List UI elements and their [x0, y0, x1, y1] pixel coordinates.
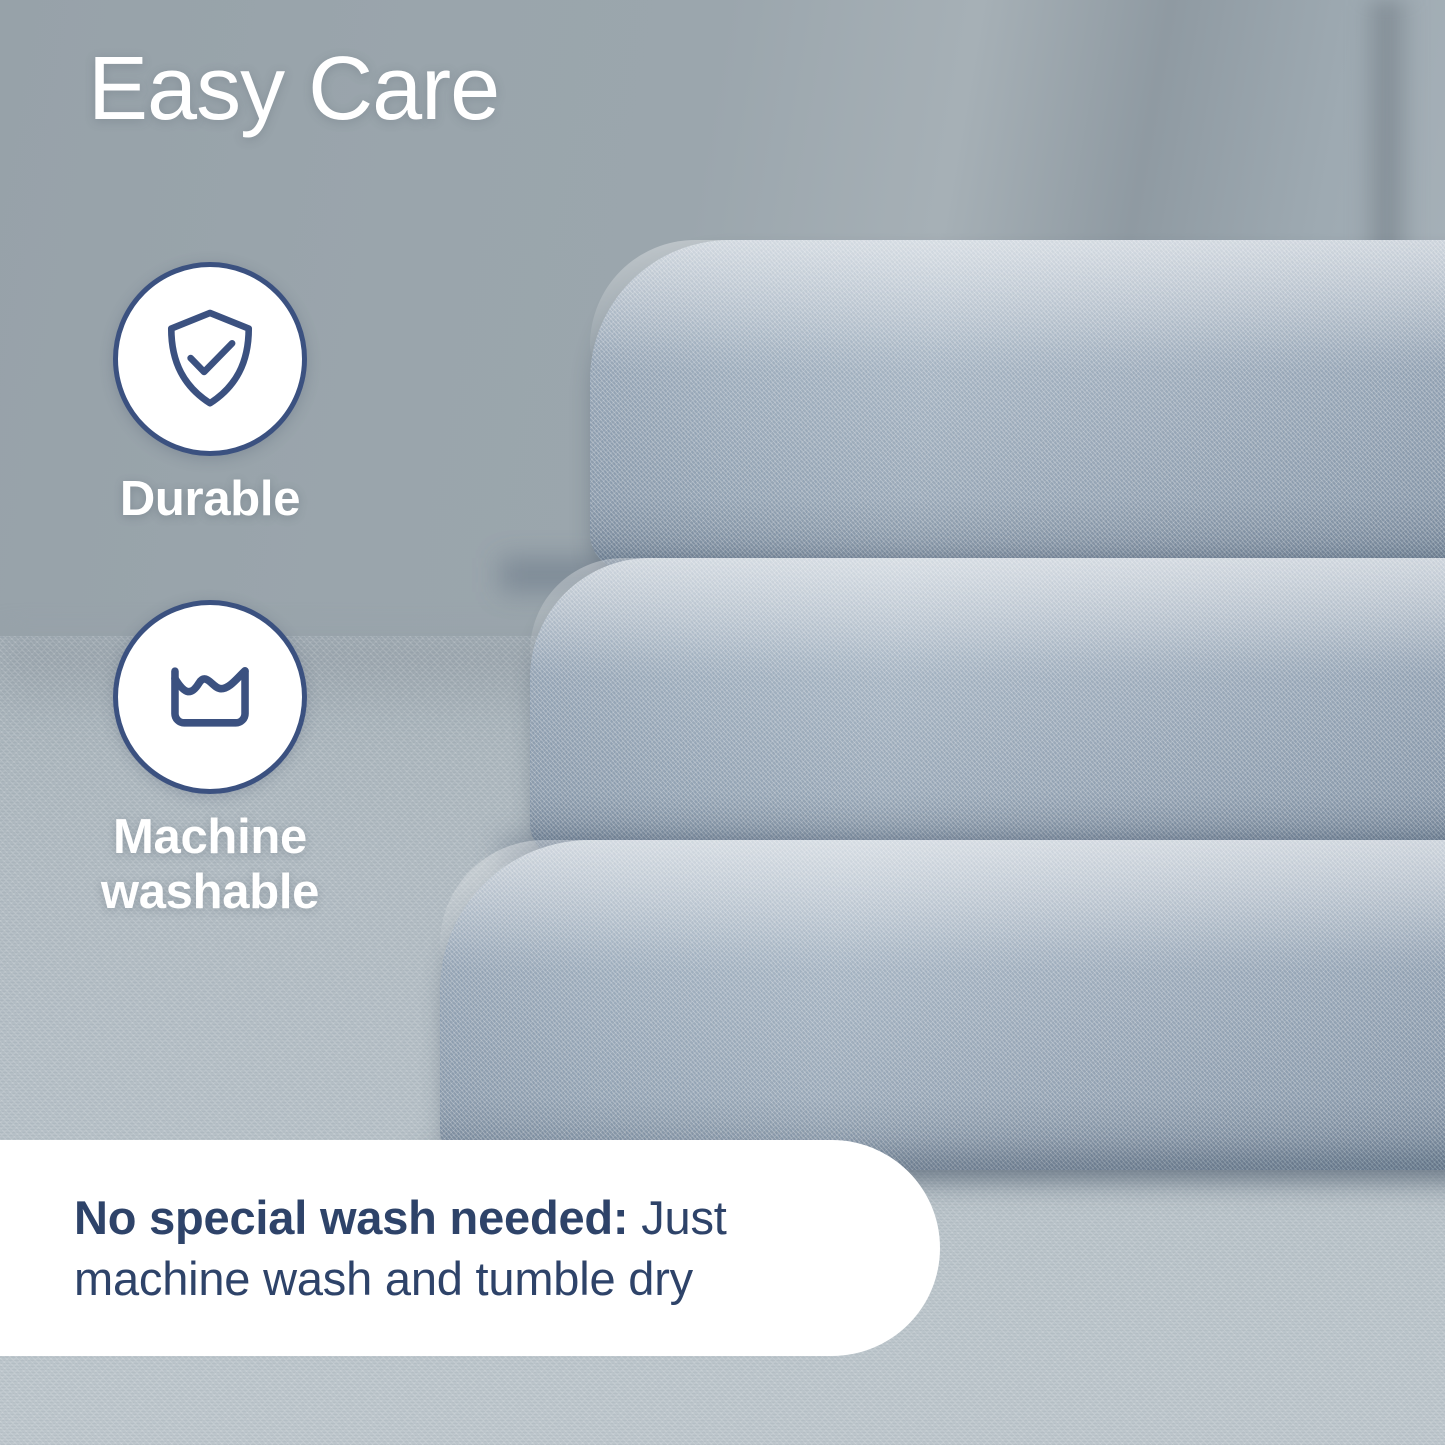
feature-durable-label: Durable [0, 472, 420, 527]
feature-label-line-1: Machine [0, 810, 420, 865]
page-title: Easy Care [88, 42, 499, 137]
folded-sheets-stack [380, 240, 1445, 1180]
feature-machine-washable-label: Machine washable [0, 810, 420, 920]
shield-check-icon [151, 300, 269, 418]
feature-durable-badge [113, 262, 307, 456]
wash-tub-icon [151, 638, 269, 756]
feature-machine-washable-badge [113, 600, 307, 794]
folded-sheet-bottom [440, 840, 1445, 1170]
feature-machine-washable: Machine washable [0, 600, 420, 920]
caption-text: No special wash needed: Just machine was… [0, 1187, 940, 1309]
caption-bold-text: No special wash needed: [74, 1191, 628, 1244]
feature-label-line-2: washable [0, 865, 420, 920]
feature-durable: Durable [0, 262, 420, 527]
marketing-infographic-canvas: Easy Care Durable Machine washable [0, 0, 1445, 1445]
caption-banner: No special wash needed: Just machine was… [0, 1140, 940, 1356]
folded-sheet-middle [530, 558, 1445, 858]
folded-sheet-top [590, 240, 1445, 570]
